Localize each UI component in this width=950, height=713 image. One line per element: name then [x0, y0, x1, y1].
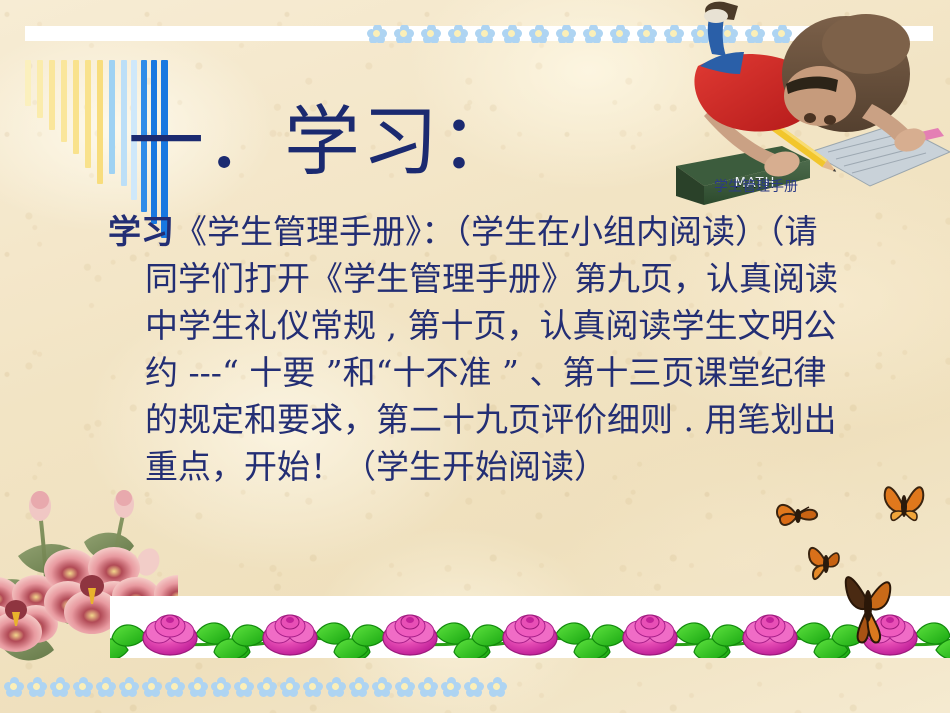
accent-bar-8	[121, 60, 127, 186]
daisy-flower-icon	[142, 677, 162, 697]
daisy-flower-icon	[165, 677, 185, 697]
daisy-flower-icon	[418, 677, 438, 697]
accent-bar-7	[109, 60, 115, 174]
butterfly-icon	[775, 498, 821, 532]
body-lead: 学习	[108, 212, 174, 251]
rose-flower	[623, 615, 677, 655]
daisy-flower-icon	[464, 677, 484, 697]
daisy-flower-icon	[303, 677, 323, 697]
rose-flower	[503, 615, 557, 655]
daisy-flower-icon	[50, 677, 70, 697]
daisy-flower-icon	[583, 25, 603, 43]
vine-leaf	[592, 625, 626, 646]
accent-bar-6	[97, 60, 103, 184]
daisy-flower-icon	[280, 677, 300, 697]
accent-bar-1	[37, 60, 43, 118]
daisy-flower-icon	[502, 25, 522, 43]
daisy-flower-icon	[441, 677, 461, 697]
accent-bar-0	[25, 60, 31, 106]
raised-leg	[704, 2, 738, 56]
daisy-flower-icon	[394, 25, 414, 43]
daisy-flower-icon	[637, 25, 657, 43]
daisy-flower-icon	[529, 25, 549, 43]
daisy-flower-icon	[119, 677, 139, 697]
daisy-flower-icon	[326, 677, 346, 697]
butterfly-icon	[838, 562, 900, 646]
head	[782, 14, 910, 132]
vine-leaf	[352, 625, 386, 646]
body-paragraph: 学习《学生管理手册》：（学生在小组内阅读）（请同学们打开《学生管理手册》第九页，…	[108, 208, 850, 490]
daisy-flower-icon	[475, 25, 495, 43]
daisy-flower-icon	[27, 677, 47, 697]
accent-bar-2	[49, 60, 55, 130]
body-paragraph-text: 《学生管理手册》：（学生在小组内阅读）（请同学们打开《学生管理手册》第九页，认真…	[145, 212, 838, 486]
vine-leaf	[112, 625, 146, 646]
butterfly-icon	[879, 478, 929, 530]
bottom-daisy-border	[0, 676, 510, 698]
daisy-flower-icon	[211, 677, 231, 697]
rose-vine-border	[110, 596, 950, 658]
daisy-flower-icon	[610, 25, 630, 43]
body-text-block: 学习《学生管理手册》：（学生在小组内阅读）（请同学们打开《学生管理手册》第九页，…	[108, 208, 850, 490]
rose-flower	[743, 615, 797, 655]
daisy-flower-icon	[257, 677, 277, 697]
daisy-flower-icon	[73, 677, 93, 697]
rose-flower	[383, 615, 437, 655]
daisy-flower-icon	[556, 25, 576, 43]
math-book-label-cn: 学生管理手册	[700, 176, 812, 196]
rose-flower	[263, 615, 317, 655]
daisy-flower-icon	[448, 25, 468, 43]
daisy-flower-icon	[96, 677, 116, 697]
accent-bar-5	[85, 60, 91, 168]
daisy-flower-icon	[234, 677, 254, 697]
daisy-flower-icon	[421, 25, 441, 43]
daisy-flower-icon	[367, 25, 387, 43]
page-title: 一．学习：	[128, 104, 518, 180]
daisy-flower-icon	[372, 677, 392, 697]
daisy-flower-icon	[188, 677, 208, 697]
daisy-flower-icon	[395, 677, 415, 697]
daisy-flower-icon	[487, 677, 507, 697]
rose-flower	[143, 615, 197, 655]
daisy-flower-icon	[349, 677, 369, 697]
accent-bar-4	[73, 60, 79, 154]
daisy-flower-icon	[4, 677, 24, 697]
accent-bar-3	[61, 60, 67, 142]
slide-canvas: MATH 学生管理手册 一．学习： 学习《学生管理手册》：（学生在小组内阅读）（…	[0, 0, 950, 713]
